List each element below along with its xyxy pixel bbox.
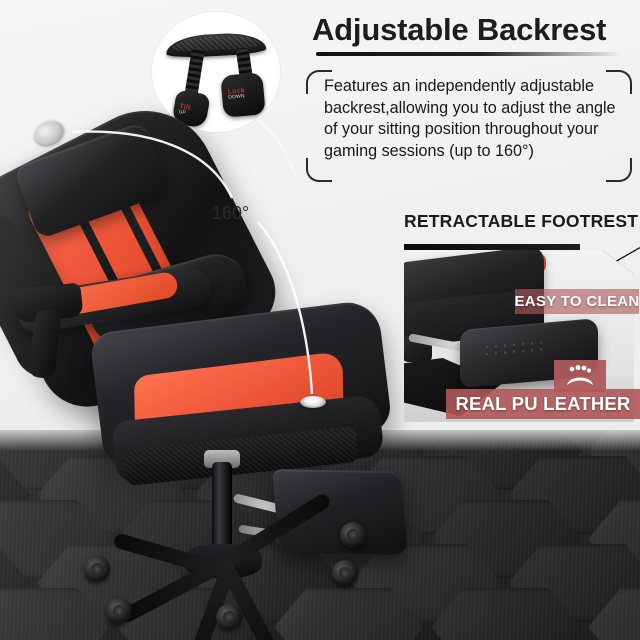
leather-hand-icon — [554, 360, 606, 392]
lever-paddle — [165, 31, 266, 58]
chair-caster — [216, 604, 242, 630]
tilt-lever-closeup: Tilt UP Lock DOWN — [152, 12, 280, 132]
footrest-heading: RETRACTABLE FOOTREST — [404, 211, 638, 232]
lever-label-right: Lock DOWN — [228, 87, 246, 100]
angle-label: 160° — [212, 203, 249, 224]
status-badge-real-pu-leather: REAL PU LEATHER — [446, 389, 640, 419]
lever-label-left: Tilt UP — [178, 103, 191, 117]
chair-caster — [106, 598, 132, 624]
page-title: Adjustable Backrest — [312, 14, 636, 47]
infographic-canvas: 160° Tilt UP Lock DOWN Adjustable Backre… — [0, 0, 640, 640]
status-badge-easy-to-clean: EASY TO CLEAN — [515, 289, 639, 314]
chair-caster — [84, 556, 110, 582]
chair-caster — [332, 560, 358, 586]
seat-point-marker — [300, 396, 326, 408]
leather-hand-icon-glyph — [563, 365, 597, 387]
title-underline — [316, 52, 622, 56]
chair-caster — [340, 522, 366, 548]
description-text: Features an independently adjustable bac… — [324, 76, 620, 162]
description-block: Features an independently adjustable bac… — [302, 66, 636, 186]
footrest-panel-top-bar — [404, 244, 580, 251]
